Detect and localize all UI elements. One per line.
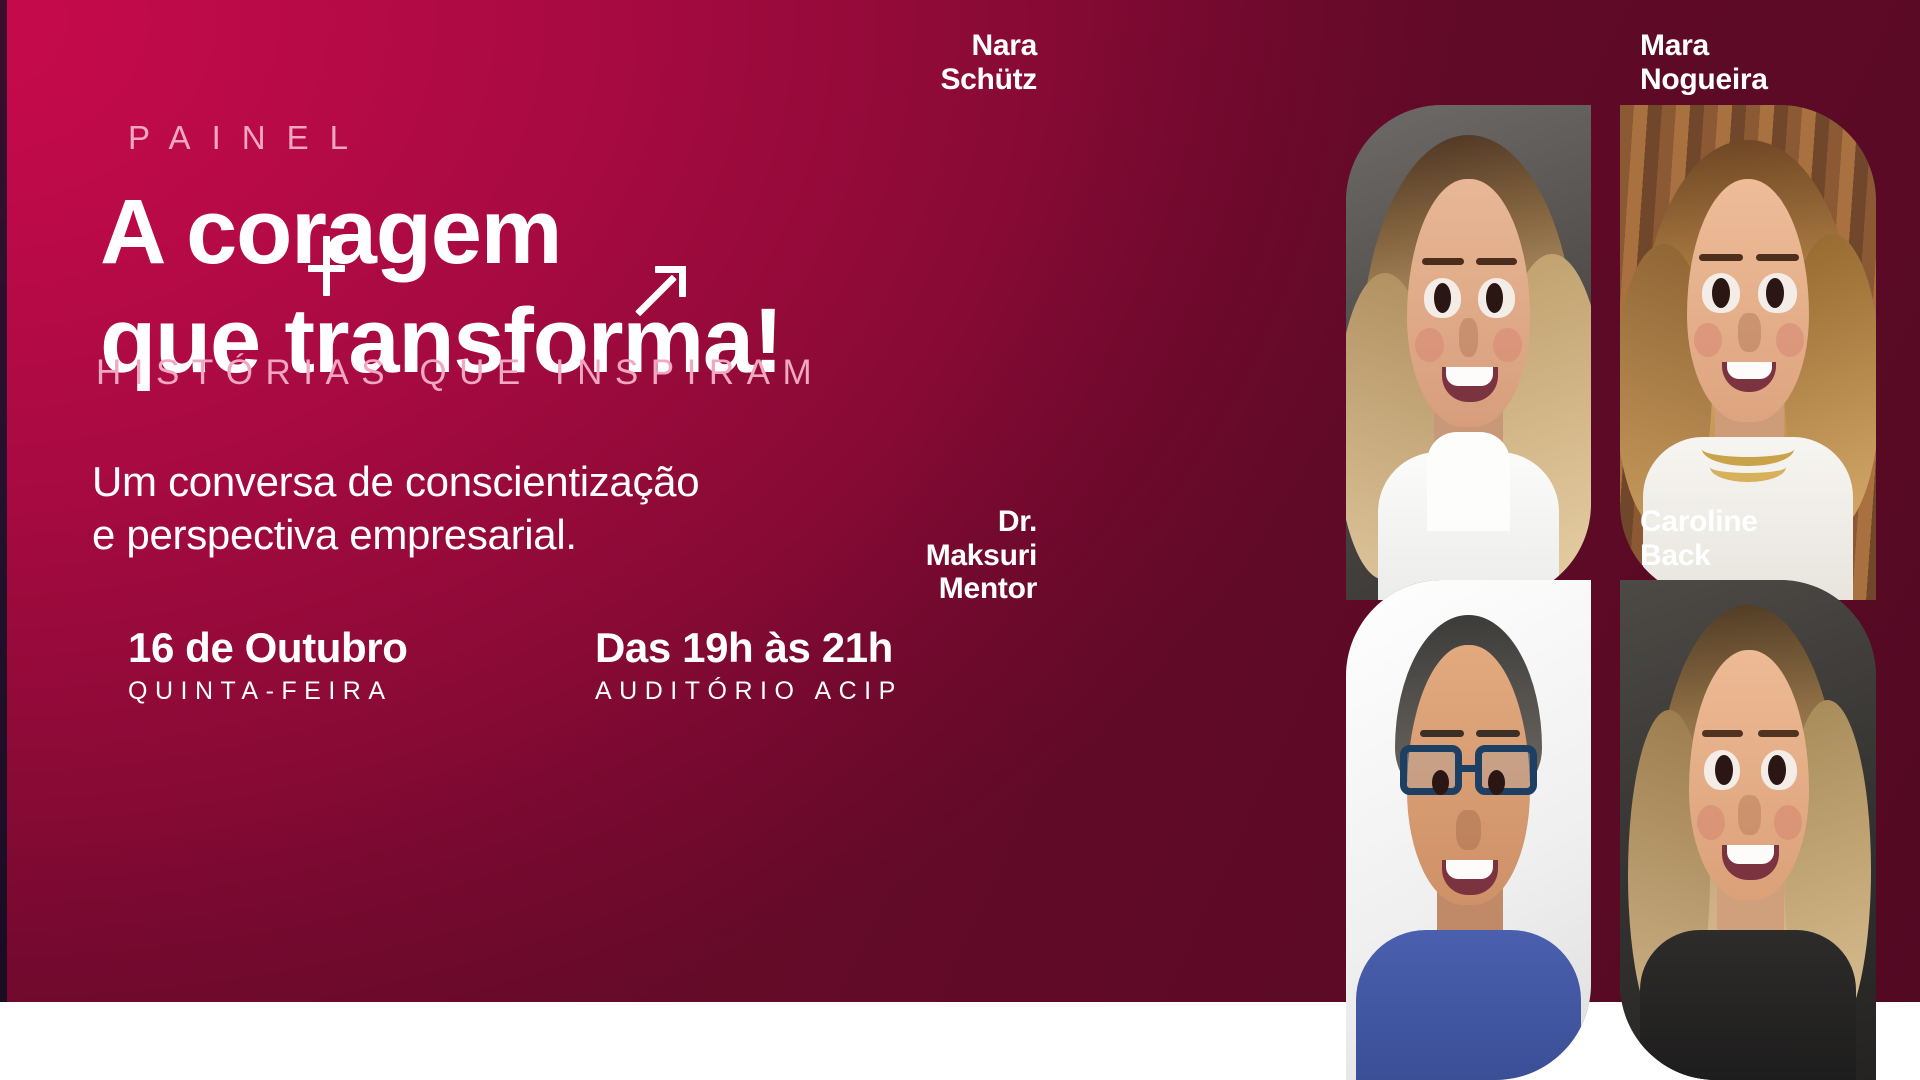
avatar — [1346, 105, 1591, 600]
portrait-illustration — [1346, 580, 1591, 1080]
speaker-name: Mara Nogueira — [1640, 29, 1768, 96]
time-block: Das 19h às 21h AUDITÓRIO ACIP — [595, 625, 903, 706]
portrait-illustration — [1620, 580, 1876, 1080]
event-poster: PAINEL A coragem que transforma! HISTÓRI… — [0, 0, 1920, 1080]
date-weekday: QUINTA-FEIRA — [128, 678, 408, 706]
avatar — [1346, 580, 1591, 1080]
headline-line-1-text: A coragem — [100, 181, 561, 283]
venue-name: AUDITÓRIO ACIP — [595, 678, 903, 706]
speaker-grid: Nara Schütz — [1330, 0, 1920, 1080]
description: Um conversa de conscientização e perspec… — [92, 455, 699, 562]
description-line-1: Um conversa de conscientização — [92, 455, 699, 508]
portrait-illustration — [1346, 105, 1591, 600]
subtitle: HISTÓRIAS QUE INSPIRAM — [96, 355, 824, 390]
date-block: 16 de Outubro QUINTA-FEIRA — [128, 625, 408, 706]
description-line-2: e perspectiva empresarial. — [92, 508, 699, 561]
date-title: 16 de Outubro — [128, 625, 408, 671]
speaker-name: Nara Schütz — [940, 29, 1037, 96]
headline-line-1: A coragem — [100, 178, 782, 287]
speaker-name: Caroline Back — [1640, 505, 1758, 572]
avatar — [1620, 580, 1876, 1080]
headline-column: PAINEL A coragem que transforma! HISTÓRI… — [0, 0, 1100, 1002]
left-edge-strip — [0, 0, 7, 1002]
kicker-label: PAINEL — [128, 121, 369, 154]
time-title: Das 19h às 21h — [595, 625, 903, 671]
speaker-name: Dr. Maksuri Mentor — [926, 505, 1037, 606]
